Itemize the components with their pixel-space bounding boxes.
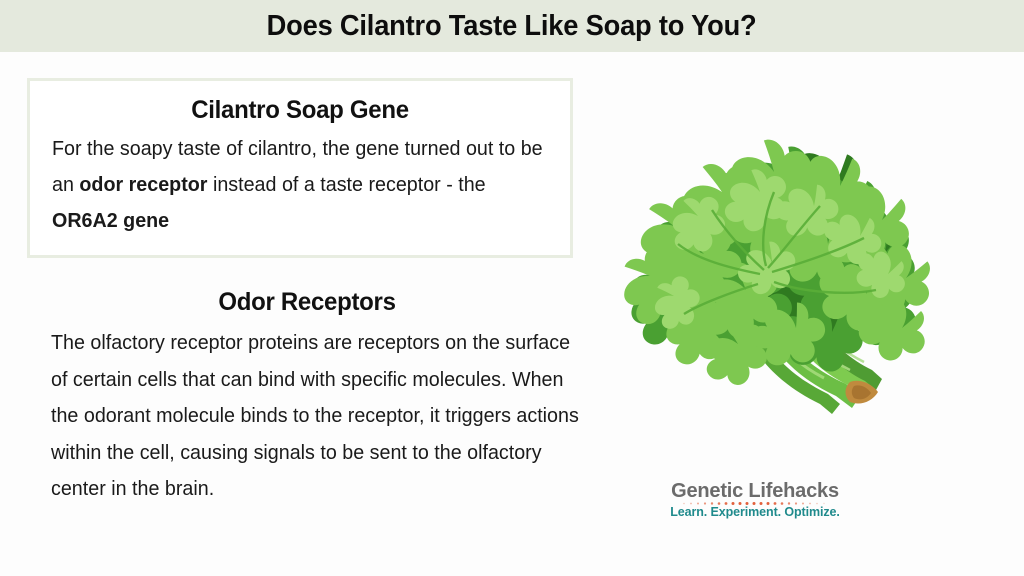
cilantro-svg [588,66,960,458]
odor-receptors-section: Odor Receptors The olfactory receptor pr… [27,288,587,508]
gene-card-body: For the soapy taste of cilantro, the gen… [52,131,562,239]
gene-card-bold-odor-receptor: odor receptor [79,174,207,196]
genetic-lifehacks-logo: Genetic Lifehacks [655,480,855,519]
gene-card-text-2: instead of a taste receptor - the [207,174,485,196]
header-band: Does Cilantro Taste Like Soap to You? [0,0,1024,52]
gene-card-heading: Cilantro Soap Gene [41,96,559,125]
left-content-column: Cilantro Soap Gene For the soapy taste o… [0,52,600,576]
odor-receptors-heading: Odor Receptors [38,288,576,317]
page-title: Does Cilantro Taste Like Soap to You? [267,10,757,43]
logo-wordmark: Genetic Lifehacks [655,480,855,502]
cilantro-soap-gene-card: Cilantro Soap Gene For the soapy taste o… [27,78,573,258]
logo-tagline: Learn. Experiment. Optimize. [655,505,855,519]
right-illustration-column: Genetic Lifehacks [580,52,1024,576]
gene-card-bold-or6a2-gene: OR6A2 gene [52,210,169,232]
cilantro-illustration [588,66,960,458]
odor-receptors-body: The olfactory receptor proteins are rece… [51,325,579,508]
